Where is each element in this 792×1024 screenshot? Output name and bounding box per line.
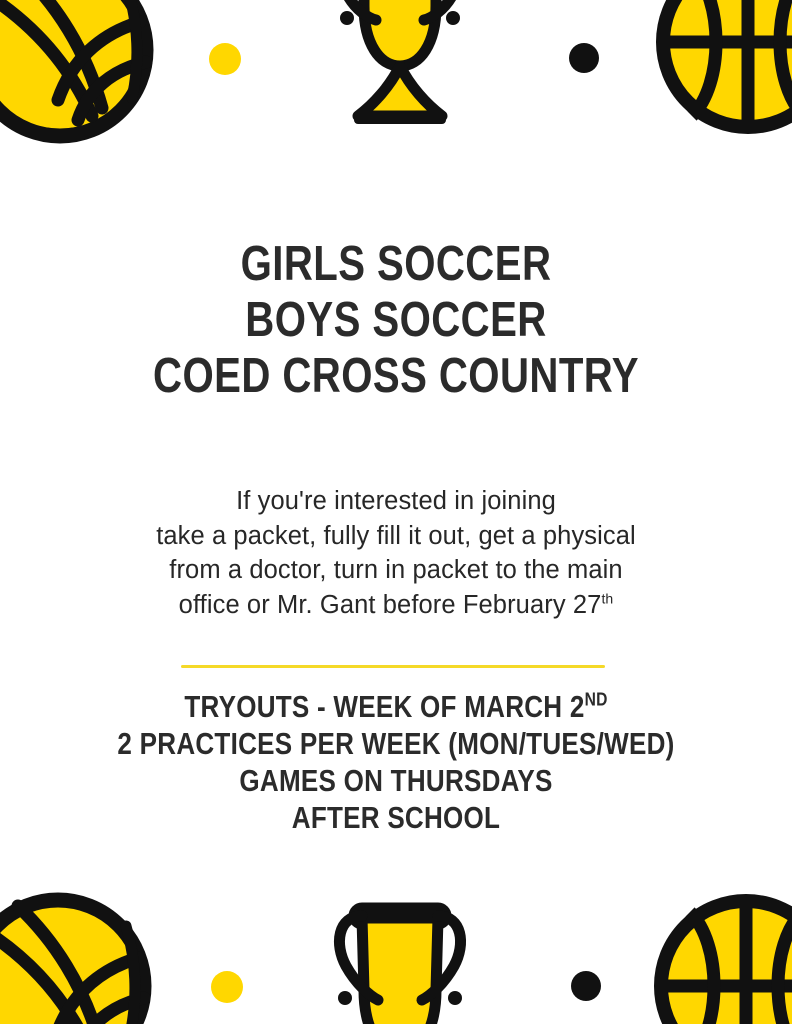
- headline-line-3: COED CROSS COUNTRY: [71, 348, 720, 404]
- section-divider: [181, 665, 605, 668]
- top-decoration-band: [0, 0, 792, 144]
- details-line-2: 2 PRACTICES PER WEEK (MON/TUES/WED): [63, 725, 728, 762]
- body-line-3: from a doctor, turn in packet to the mai…: [0, 553, 792, 588]
- details-line-1-text: TRYOUTS - WEEK OF MARCH 2: [184, 689, 584, 724]
- sports-tryouts-poster: GIRLS SOCCER BOYS SOCCER COED CROSS COUN…: [0, 0, 792, 1024]
- basketball-icon: [648, 0, 792, 142]
- trophy-icon: [318, 890, 482, 1024]
- black-dot: [569, 43, 599, 73]
- details-line-1: TRYOUTS - WEEK OF MARCH 2ND: [63, 688, 728, 725]
- yellow-dot: [211, 971, 243, 1003]
- details-line-4: AFTER SCHOOL: [63, 799, 728, 836]
- bottom-decoration-band: [0, 878, 792, 1024]
- page-title: GIRLS SOCCER BOYS SOCCER COED CROSS COUN…: [71, 236, 720, 404]
- instructions-paragraph: If you're interested in joining take a p…: [0, 484, 792, 622]
- black-dot: [571, 971, 601, 1001]
- details-line-3: GAMES ON THURSDAYS: [63, 762, 728, 799]
- body-line-2: take a packet, fully fill it out, get a …: [0, 519, 792, 554]
- schedule-details: TRYOUTS - WEEK OF MARCH 2ND 2 PRACTICES …: [63, 688, 728, 836]
- details-line-1-ordinal: ND: [585, 689, 608, 710]
- basketball-icon: [646, 886, 792, 1024]
- yellow-dot: [209, 43, 241, 75]
- volleyball-icon: [0, 0, 160, 144]
- body-line-4-ordinal: th: [601, 590, 613, 606]
- body-line-4: office or Mr. Gant before February 27th: [0, 588, 792, 623]
- volleyball-icon: [0, 886, 158, 1024]
- body-line-1: If you're interested in joining: [0, 484, 792, 519]
- headline-line-2: BOYS SOCCER: [71, 292, 720, 348]
- body-line-4-text: office or Mr. Gant before February 27: [179, 591, 602, 619]
- trophy-icon: [320, 0, 480, 140]
- headline-line-1: GIRLS SOCCER: [71, 236, 720, 292]
